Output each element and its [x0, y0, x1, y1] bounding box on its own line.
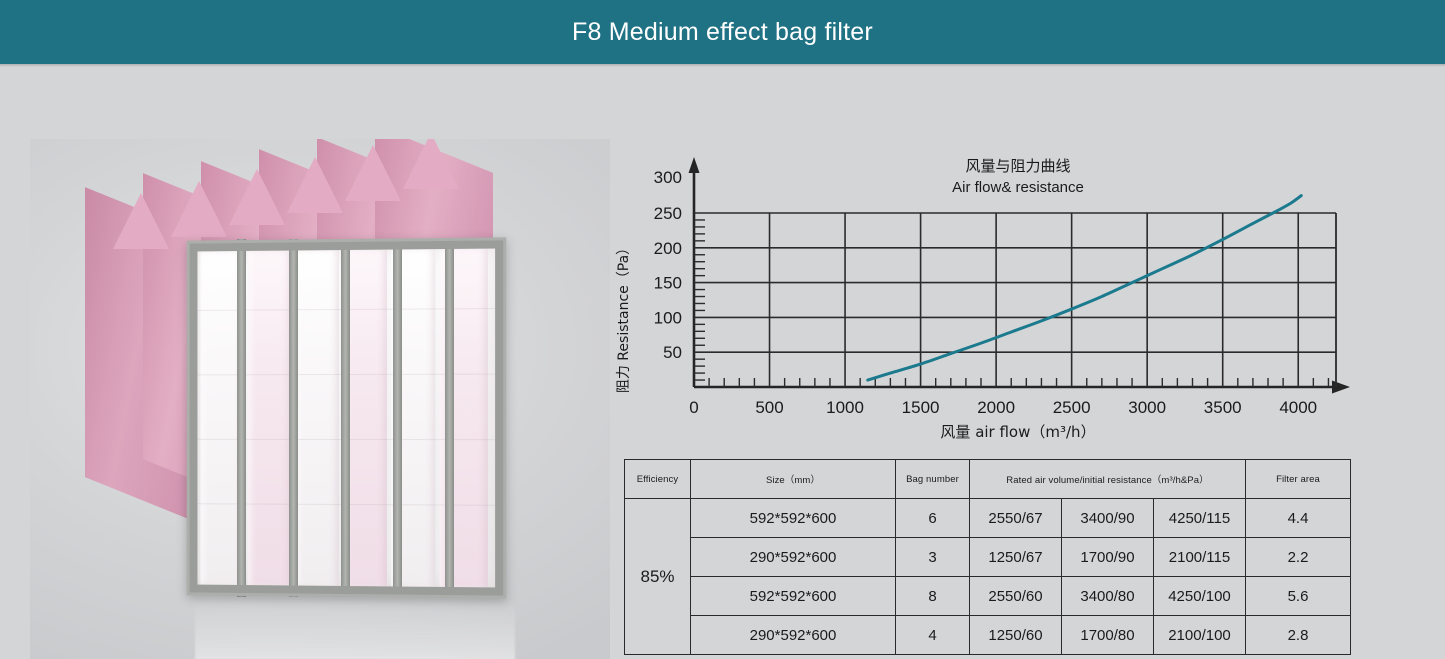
col-header-efficiency: Efficiency [625, 460, 691, 499]
chart-x-axis-label: 风量 air flow（m³/h） [940, 423, 1095, 441]
page-header: F8 Medium effect bag filter [0, 0, 1445, 64]
cell-rated-1: 2550/60 [970, 577, 1062, 616]
y-tick-label: 250 [654, 204, 682, 223]
cell-size: 290*592*600 [691, 616, 896, 655]
cell-filter-area: 4.4 [1246, 499, 1351, 538]
pocket-peak-5 [345, 145, 401, 201]
x-tick-labels: 05001000150020002500300035004000 [689, 398, 1317, 417]
product-photo [30, 139, 610, 659]
cell-filter-area: 5.6 [1246, 577, 1351, 616]
col-header-filter-area: Filter area [1246, 460, 1351, 499]
x-tick-label: 3500 [1204, 398, 1242, 417]
cell-bag-number: 3 [896, 538, 970, 577]
chart-svg: 风量与阻力曲线 Air flow& resistance 阻力 Resistan… [610, 147, 1370, 447]
cell-bag-number: 8 [896, 577, 970, 616]
bag-filter-illustration [85, 159, 565, 619]
chart-gridlines [694, 213, 1336, 387]
x-axis-arrow [1332, 381, 1350, 394]
pocket-peak-2 [171, 181, 227, 237]
cell-rated-3: 4250/100 [1154, 577, 1246, 616]
chart-plot: 50100150200250300 0500100015002000250030… [654, 157, 1350, 417]
specification-table: Efficiency Size（mm） Bag number Rated air… [624, 459, 1351, 655]
chart-title-cn: 风量与阻力曲线 [965, 157, 1070, 175]
x-tick-label: 1000 [826, 398, 864, 417]
cell-rated-3: 2100/115 [1154, 538, 1246, 577]
page-title: F8 Medium effect bag filter [572, 18, 873, 47]
cell-rated-3: 4250/115 [1154, 499, 1246, 538]
cell-filter-area: 2.8 [1246, 616, 1351, 655]
x-tick-label: 2500 [1053, 398, 1091, 417]
cell-rated-1: 1250/60 [970, 616, 1062, 655]
table-header-row: Efficiency Size（mm） Bag number Rated air… [625, 460, 1351, 499]
filter-metal-frame [187, 237, 507, 598]
y-minor-ticks [694, 220, 705, 380]
x-tick-label: 4000 [1279, 398, 1317, 417]
x-tick-label: 1500 [902, 398, 940, 417]
table-row: 85%592*592*60062550/673400/904250/1154.4 [625, 499, 1351, 538]
airflow-resistance-chart: 风量与阻力曲线 Air flow& resistance 阻力 Resistan… [610, 147, 1370, 447]
x-tick-label: 2000 [977, 398, 1015, 417]
y-tick-label: 150 [654, 274, 682, 293]
y-tick-label: 50 [663, 343, 682, 362]
cell-size: 592*592*600 [691, 499, 896, 538]
cell-filter-area: 2.2 [1246, 538, 1351, 577]
cell-rated-1: 1250/67 [970, 538, 1062, 577]
chart-title-en: Air flow& resistance [952, 179, 1084, 196]
cell-bag-number: 6 [896, 499, 970, 538]
col-header-bag-number: Bag number [896, 460, 970, 499]
cell-rated-2: 1700/80 [1062, 616, 1154, 655]
pocket-peak-1 [113, 193, 169, 249]
pocket-peak-4 [287, 157, 343, 213]
pocket-peak-3 [229, 169, 285, 225]
y-axis-arrow [689, 157, 700, 173]
cell-size: 592*592*600 [691, 577, 896, 616]
col-header-size: Size（mm） [691, 460, 896, 499]
cell-bag-number: 4 [896, 616, 970, 655]
y-tick-label: 200 [654, 239, 682, 258]
x-tick-label: 3000 [1128, 398, 1166, 417]
y-tick-label: 300 [654, 168, 682, 187]
cell-rated-2: 1700/90 [1062, 538, 1154, 577]
chart-y-axis-label: 阻力 Resistance（Pa） [616, 241, 632, 393]
col-header-rated-air-volume: Rated air volume/initial resistance（m³/h… [970, 460, 1246, 499]
x-minor-ticks [709, 378, 1328, 387]
cell-size: 290*592*600 [691, 538, 896, 577]
cell-efficiency: 85% [625, 499, 691, 655]
table-body: 85%592*592*60062550/673400/904250/1154.4… [625, 499, 1351, 655]
y-tick-label: 100 [654, 308, 682, 327]
specification-table-wrapper: Efficiency Size（mm） Bag number Rated air… [624, 459, 1351, 655]
page-root: F8 Medium effect bag filter [0, 0, 1445, 603]
cell-rated-1: 2550/67 [970, 499, 1062, 538]
cell-rated-3: 2100/100 [1154, 616, 1246, 655]
table-row: 290*592*60031250/671700/902100/1152.2 [625, 538, 1351, 577]
content-area: 风量与阻力曲线 Air flow& resistance 阻力 Resistan… [0, 67, 1445, 603]
x-tick-label: 500 [755, 398, 783, 417]
y-tick-labels: 50100150200250300 [654, 168, 682, 362]
table-row: 592*592*60082550/603400/804250/1005.6 [625, 577, 1351, 616]
table-row: 290*592*60041250/601700/802100/1002.8 [625, 616, 1351, 655]
pocket-peak-6 [403, 139, 459, 189]
x-tick-label: 0 [689, 398, 698, 417]
cell-rated-2: 3400/80 [1062, 577, 1154, 616]
product-reflection [195, 599, 515, 659]
cell-rated-2: 3400/90 [1062, 499, 1154, 538]
